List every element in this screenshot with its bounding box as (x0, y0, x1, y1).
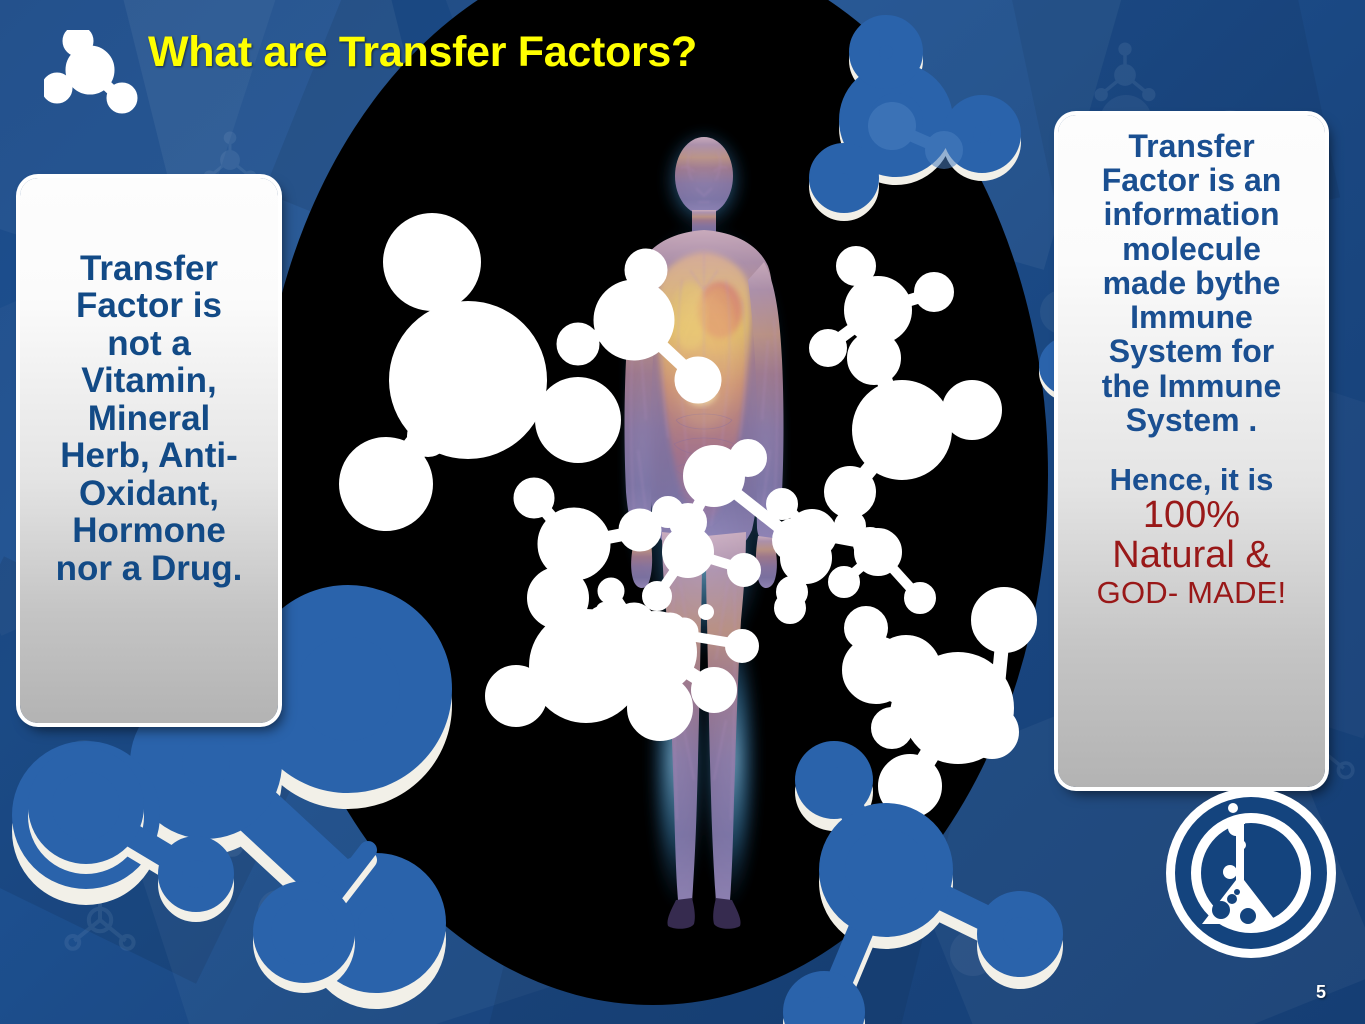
callout-left-line: Hormone (36, 512, 262, 549)
transfer-factor-negative-definition-box: Transfer Factor is not a Vitamin, Minera… (20, 178, 278, 723)
page-number: 5 (1316, 982, 1326, 1003)
callout-right-line: information (1068, 197, 1315, 231)
molecule-icon (790, 772, 1080, 1024)
callout-right-line: Transfer (1068, 129, 1315, 163)
god-made-line: GOD- MADE! (1068, 576, 1315, 610)
callout-left-line: Mineral (36, 400, 262, 437)
callout-left-line: Herb, Anti- (36, 437, 262, 474)
callout-right-line: System for (1068, 334, 1315, 368)
callout-right-line: Immune (1068, 300, 1315, 334)
emphasis-percent: 100% (1068, 496, 1315, 536)
molecule-icon (44, 30, 140, 114)
molecule-icon (250, 840, 430, 1024)
transfer-factor-positive-definition-box: Transfer Factor is an information molecu… (1058, 115, 1325, 787)
callout-left-line: Transfer (36, 250, 262, 287)
callout-left-line: not a (36, 325, 262, 362)
callout-left-line: nor a Drug. (36, 550, 262, 587)
callout-left-line: Oxidant, (36, 475, 262, 512)
callout-left-line: Vitamin, (36, 362, 262, 399)
callout-left-line: Factor is (36, 287, 262, 324)
molecule-icon (328, 420, 458, 540)
emphasis-natural: Natural & (1068, 536, 1315, 576)
callout-right-line: made bythe (1068, 266, 1315, 300)
page-title: What are Transfer Factors? (148, 28, 697, 77)
molecule-icon (578, 594, 698, 654)
callout-right-line: System . (1068, 403, 1315, 437)
callout-right-line: the Immune (1068, 369, 1315, 403)
molecule-watermark-icon (1090, 40, 1160, 110)
hence-line: Hence, it is (1068, 463, 1315, 496)
laboratory-flask-logo (1166, 788, 1336, 958)
callout-right-line: molecule (1068, 232, 1315, 266)
slide-canvas: What are Transfer Factors? Transfer Fact… (0, 0, 1365, 1024)
molecule-icon (556, 258, 736, 418)
spacer (1068, 437, 1315, 463)
callout-right-line: Factor is an (1068, 163, 1315, 197)
molecule-icon (20, 760, 240, 960)
title-bar: What are Transfer Factors? (0, 24, 900, 104)
